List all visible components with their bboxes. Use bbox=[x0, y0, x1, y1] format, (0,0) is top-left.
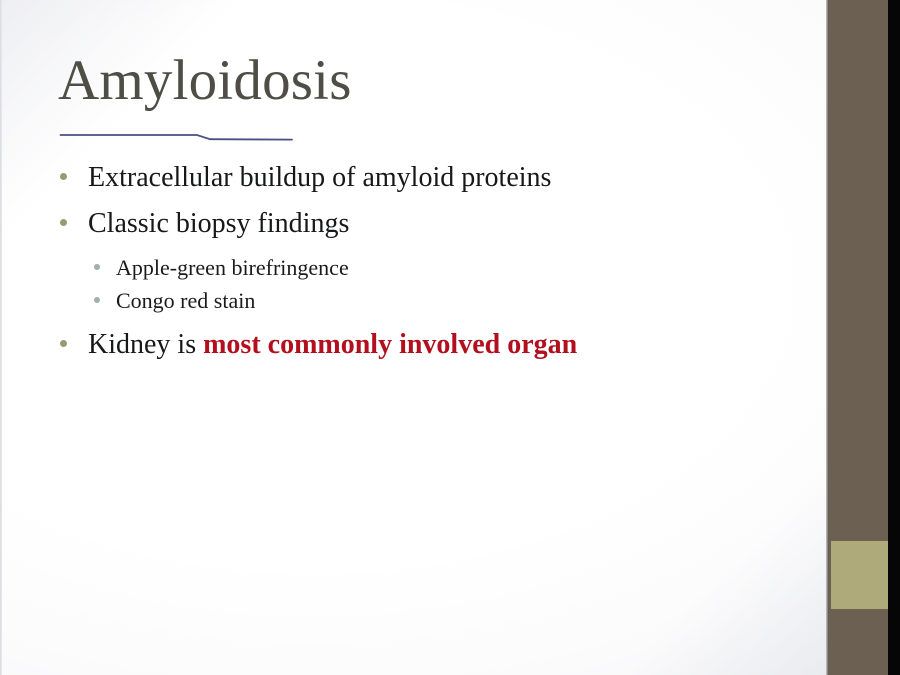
presentation-slide: Amyloidosis Extracellular buildup of amy… bbox=[0, 0, 900, 675]
sub-list-item: Congo red stain bbox=[94, 286, 800, 315]
bullet-dot-icon bbox=[60, 173, 67, 180]
title-block: Amyloidosis bbox=[58, 52, 758, 109]
list-item: Extracellular buildup of amyloid protein… bbox=[60, 160, 800, 196]
sub-list-item-label: Congo red stain bbox=[116, 286, 255, 315]
list-item-label: Classic biopsy findings bbox=[88, 206, 349, 242]
bullet-list: Extracellular buildup of amyloid protein… bbox=[60, 160, 800, 373]
sub-list-item: Apple-green birefringence bbox=[94, 253, 800, 282]
list-item-label: Extracellular buildup of amyloid protein… bbox=[88, 160, 551, 196]
sub-bullet-dot-icon bbox=[94, 297, 100, 303]
slide-right-border bbox=[888, 0, 900, 675]
title-underline-rule bbox=[60, 122, 292, 144]
sub-bullet-dot-icon bbox=[94, 264, 100, 270]
bullet-dot-icon bbox=[60, 219, 67, 226]
list-item: Classic biopsy findings bbox=[60, 206, 800, 242]
list-item: Kidney is most commonly involved organ bbox=[60, 327, 800, 363]
page-title: Amyloidosis bbox=[58, 52, 758, 109]
list-item-label-plain: Kidney is bbox=[88, 329, 203, 360]
decorative-sidebar-accent-block bbox=[831, 541, 888, 609]
list-item-label: Kidney is most commonly involved organ bbox=[88, 327, 577, 363]
sub-list-item-label: Apple-green birefringence bbox=[116, 253, 349, 282]
bullet-dot-icon bbox=[60, 340, 67, 347]
slide-left-edge bbox=[0, 0, 2, 675]
list-item-label-emphasis: most commonly involved organ bbox=[203, 329, 577, 360]
